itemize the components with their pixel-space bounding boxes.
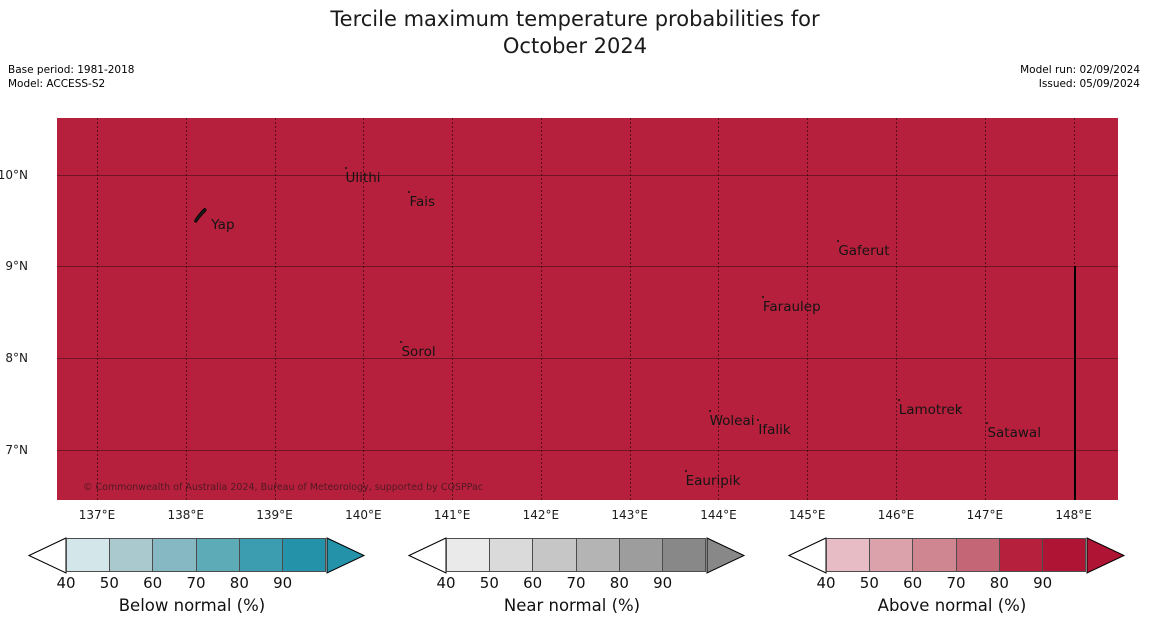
place-marker-dot <box>400 341 402 343</box>
place-marker-dot <box>986 422 988 424</box>
gridline-lon-143 <box>630 118 631 500</box>
colorbar-above: 405060708090Above normal (%) <box>768 536 1136 640</box>
lon-tick-139: 139°E <box>256 508 293 522</box>
yap-island-shape <box>193 207 208 224</box>
colorbar-segment-3 <box>577 538 620 572</box>
place-name-text: Fais <box>409 194 435 210</box>
place-marker-dot <box>685 470 687 472</box>
colorbar-segment-5 <box>663 538 706 572</box>
colorbar-segment-0 <box>66 538 110 572</box>
colorbar-segment-4 <box>620 538 663 572</box>
colorbar-caption: Above normal (%) <box>768 596 1136 615</box>
colorbar-segment-0 <box>826 538 870 572</box>
gridline-lon-146 <box>896 118 897 500</box>
colorbar-tick-40: 40 <box>816 574 835 592</box>
issued-label: Issued: 05/09/2024 <box>1020 77 1140 91</box>
colorbar-gradient <box>826 538 1086 572</box>
meridian-line-148e <box>1074 266 1076 500</box>
copyright-credit: © Commonwealth of Australia 2024, Bureau… <box>83 482 483 493</box>
colorbar-segment-2 <box>913 538 956 572</box>
place-marker-dot-unlabeled <box>958 407 960 409</box>
colorbar-segment-2 <box>533 538 576 572</box>
colorbar-caption: Near normal (%) <box>388 596 756 615</box>
colorbar-tick-50: 50 <box>100 574 119 592</box>
colorbar-extend-high-arrow <box>326 537 366 575</box>
map-plot-area: YapUlithiFaisSorolGaferutFaraulepWoleaiI… <box>57 118 1118 500</box>
place-marker-dot <box>709 410 711 412</box>
gridline-lon-142 <box>541 118 542 500</box>
map-label-satawal: Satawal <box>987 427 1040 441</box>
colorbar-gradient <box>446 538 706 572</box>
lon-tick-147: 147°E <box>967 508 1004 522</box>
colorbar-extend-low-border <box>28 537 68 575</box>
colorbar-tick-90: 90 <box>273 574 292 592</box>
lon-tick-141: 141°E <box>434 508 471 522</box>
place-name-text: Gaferut <box>838 243 889 259</box>
colorbar-segment-4 <box>240 538 283 572</box>
map-label-ulithi: Ulithi <box>346 172 381 186</box>
colorbar-below: 405060708090Below normal (%) <box>8 536 376 640</box>
page-title: Tercile maximum temperature probabilitie… <box>0 6 1150 60</box>
place-marker-dot <box>345 167 347 169</box>
colorbar-tick-90: 90 <box>1033 574 1052 592</box>
map-label-faraulep: Faraulep <box>763 301 821 315</box>
place-name-text: Woleai <box>710 413 755 429</box>
gridline-lon-138 <box>186 118 187 500</box>
lon-tick-137: 137°E <box>79 508 116 522</box>
gridline-lat-10 <box>57 175 1118 176</box>
colorbar-segment-5 <box>283 538 326 572</box>
place-marker-dot <box>762 296 764 298</box>
map-label-gaferut: Gaferut <box>838 245 889 259</box>
colorbar-tick-80: 80 <box>230 574 249 592</box>
place-name-text: Faraulep <box>763 299 821 315</box>
place-marker-dot <box>408 191 410 193</box>
colorbar-extend-low-border <box>788 537 828 575</box>
gridline-lat-9 <box>57 266 1118 267</box>
base-period-label: Base period: 1981-2018 <box>8 63 134 77</box>
model-run-label: Model run: 02/09/2024 <box>1020 63 1140 77</box>
colorbar-tick-70: 70 <box>186 574 205 592</box>
metadata-left: Base period: 1981-2018 Model: ACCESS-S2 <box>8 63 134 91</box>
lon-tick-138: 138°E <box>167 508 204 522</box>
place-name-text: Ifalik <box>758 422 790 438</box>
lon-tick-146: 146°E <box>878 508 915 522</box>
place-name-text: Ulithi <box>346 170 381 186</box>
colorbar-gradient <box>66 538 326 572</box>
map-label-lamotrek: Lamotrek <box>899 404 963 418</box>
colorbar-tick-80: 80 <box>990 574 1009 592</box>
place-name-text: Sorol <box>401 344 435 360</box>
place-marker-dot <box>898 399 900 401</box>
lon-tick-140: 140°E <box>345 508 382 522</box>
colorbar-extend-high-arrow <box>1086 537 1126 575</box>
lon-tick-143: 143°E <box>611 508 648 522</box>
place-name-text: Yap <box>211 217 234 233</box>
colorbar-tick-60: 60 <box>523 574 542 592</box>
map-label-ifalik: Ifalik <box>758 424 790 438</box>
map-label-eauripik: Eauripik <box>686 475 741 489</box>
gridline-lon-137 <box>97 118 98 500</box>
colorbar-tick-labels: 405060708090 <box>388 574 756 596</box>
colorbar-tick-60: 60 <box>903 574 922 592</box>
colorbar-near: 405060708090Near normal (%) <box>388 536 756 640</box>
title-line-1: Tercile maximum temperature probabilitie… <box>330 7 819 31</box>
colorbar-segment-5 <box>1043 538 1086 572</box>
colorbar-segment-4 <box>1000 538 1043 572</box>
gridline-lon-139 <box>275 118 276 500</box>
lat-tick-10: 10°N <box>0 168 28 182</box>
map-label-sorol: Sorol <box>401 346 435 360</box>
colorbar-segment-3 <box>957 538 1000 572</box>
place-name-text: Eauripik <box>686 473 741 489</box>
gridline-lat-8 <box>57 358 1118 359</box>
place-name-text: Satawal <box>987 425 1040 441</box>
colorbar-segment-3 <box>197 538 240 572</box>
lat-tick-9: 9°N <box>0 259 28 273</box>
gridline-lon-144 <box>718 118 719 500</box>
map-label-woleai: Woleai <box>710 415 755 429</box>
colorbar-segment-2 <box>153 538 196 572</box>
lon-tick-148: 148°E <box>1055 508 1092 522</box>
colorbar-tick-40: 40 <box>56 574 75 592</box>
place-marker-dot <box>837 240 839 242</box>
colorbar-tick-labels: 405060708090 <box>768 574 1136 596</box>
colorbar-caption: Below normal (%) <box>8 596 376 615</box>
lon-tick-144: 144°E <box>700 508 737 522</box>
place-marker-dot <box>757 419 759 421</box>
colorbar-extend-high-arrow <box>706 537 746 575</box>
map-label-fais: Fais <box>409 196 435 210</box>
metadata-right: Model run: 02/09/2024 Issued: 05/09/2024 <box>1020 63 1140 91</box>
colorbar-tick-labels: 405060708090 <box>8 574 376 596</box>
colorbar-tick-90: 90 <box>653 574 672 592</box>
lon-tick-145: 145°E <box>789 508 826 522</box>
colorbar-tick-70: 70 <box>946 574 965 592</box>
title-line-2: October 2024 <box>0 33 1150 60</box>
place-name-text: Lamotrek <box>899 402 963 418</box>
colorbar-segment-0 <box>446 538 490 572</box>
gridline-lat-7 <box>57 450 1118 451</box>
lat-tick-7: 7°N <box>0 443 28 457</box>
gridline-lon-141 <box>452 118 453 500</box>
colorbar-segment-1 <box>110 538 153 572</box>
colorbar-extend-low-border <box>408 537 448 575</box>
colorbar-tick-80: 80 <box>610 574 629 592</box>
lat-tick-8: 8°N <box>0 351 28 365</box>
colorbar-tick-40: 40 <box>436 574 455 592</box>
colorbar-tick-50: 50 <box>860 574 879 592</box>
colorbar-segment-1 <box>870 538 913 572</box>
model-label: Model: ACCESS-S2 <box>8 77 134 91</box>
colorbar-tick-60: 60 <box>143 574 162 592</box>
colorbar-tick-50: 50 <box>480 574 499 592</box>
lon-tick-142: 142°E <box>523 508 560 522</box>
map-label-yap: Yap <box>211 219 234 233</box>
colorbar-segment-1 <box>490 538 533 572</box>
gridline-lon-147 <box>985 118 986 500</box>
colorbar-tick-70: 70 <box>566 574 585 592</box>
